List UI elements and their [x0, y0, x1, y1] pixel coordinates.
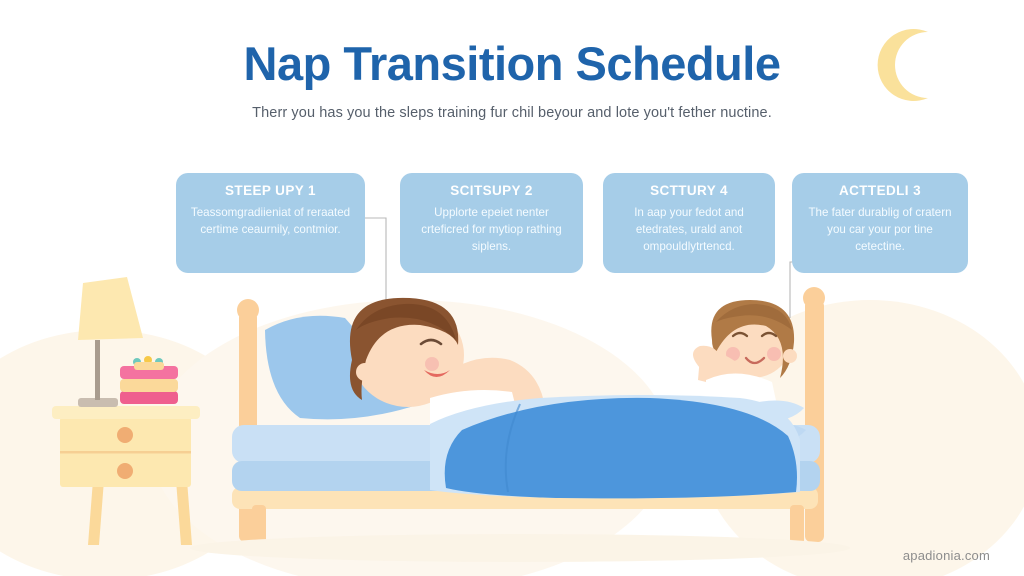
blanket — [430, 395, 800, 498]
watermark: apadionia.com — [903, 548, 990, 563]
nightstand — [52, 406, 200, 545]
child-right — [693, 300, 797, 410]
stacked-books — [120, 356, 178, 404]
infographic-canvas: Nap Transition Schedule Therr you has yo… — [0, 0, 1024, 576]
bedroom-illustration — [0, 0, 1024, 576]
floor-shadow — [190, 534, 850, 562]
drawer-knob-bottom — [117, 463, 133, 479]
drawer-knob-top — [117, 427, 133, 443]
